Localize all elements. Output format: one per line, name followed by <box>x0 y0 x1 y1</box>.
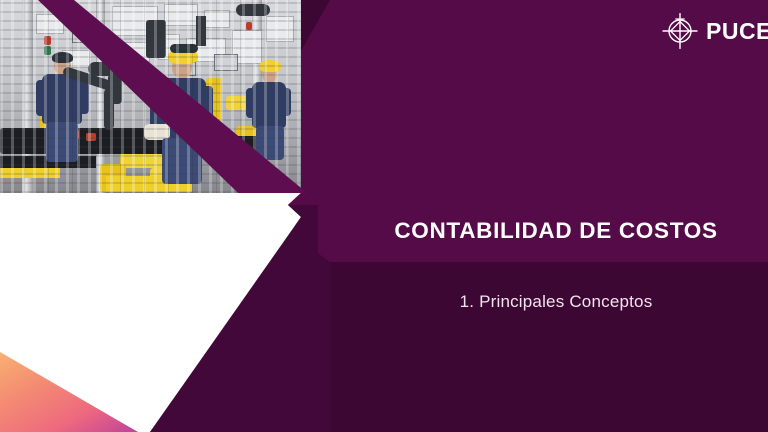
presentation-slide: CONTABILIDAD DE COSTOS 1. Principales Co… <box>0 0 768 432</box>
page-title: CONTABILIDAD DE COSTOS <box>362 219 750 244</box>
page-subtitle: 1. Principales Conceptos <box>330 292 768 312</box>
gradient-corner-accent <box>0 0 768 432</box>
puce-compass-cross-icon <box>660 11 700 51</box>
puce-logo: PUCE <box>660 8 760 54</box>
brand-name: PUCE <box>706 20 768 43</box>
